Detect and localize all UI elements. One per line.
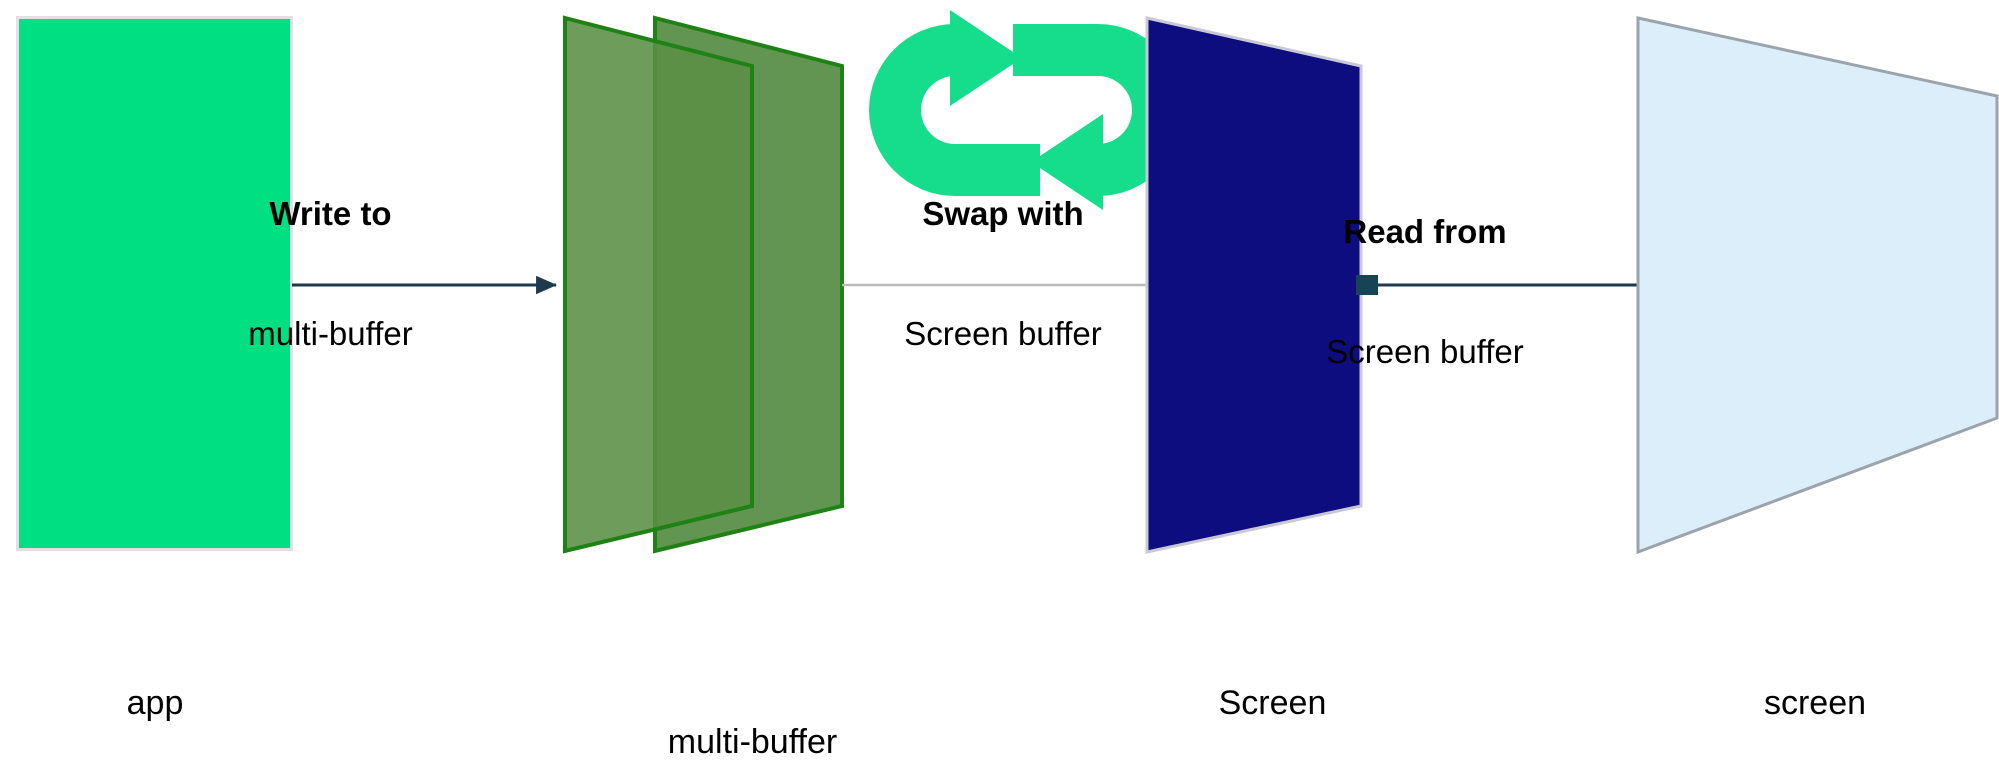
edge-label-read-bold: Read from — [1260, 212, 1590, 252]
node-label-app: app — [30, 600, 280, 771]
edge-label-read: Read from Screen buffer — [1260, 131, 1590, 453]
edge-label-swap-plain: Screen buffer — [838, 314, 1168, 354]
edge-label-read-plain: Screen buffer — [1260, 332, 1590, 372]
edge-label-swap: Swap with Screen buffer — [838, 113, 1168, 435]
edge-label-write-bold: Write to — [183, 194, 478, 234]
node-label-app-line1: app — [30, 683, 280, 724]
edge-label-swap-bold: Swap with — [838, 194, 1168, 234]
node-multibuffer-plane-front — [565, 18, 752, 551]
node-label-screen: screen — [1690, 600, 1940, 771]
node-screen-shape — [1638, 18, 1997, 552]
diagram-canvas: Write to multi-buffer Swap with Screen b… — [0, 0, 1999, 771]
node-label-multibuffer-line1: multi-buffer — [545, 722, 960, 763]
node-label-multibuffer: multi-buffer (memory) — [545, 639, 960, 771]
node-label-screenbuffer-line1: Screen — [1130, 683, 1415, 724]
node-label-screenbuffer: Screen buffer (memory) — [1130, 600, 1415, 771]
edge-label-write-plain: multi-buffer — [183, 314, 478, 354]
node-label-screen-line1: screen — [1690, 683, 1940, 724]
edge-label-write: Write to multi-buffer — [183, 113, 478, 435]
